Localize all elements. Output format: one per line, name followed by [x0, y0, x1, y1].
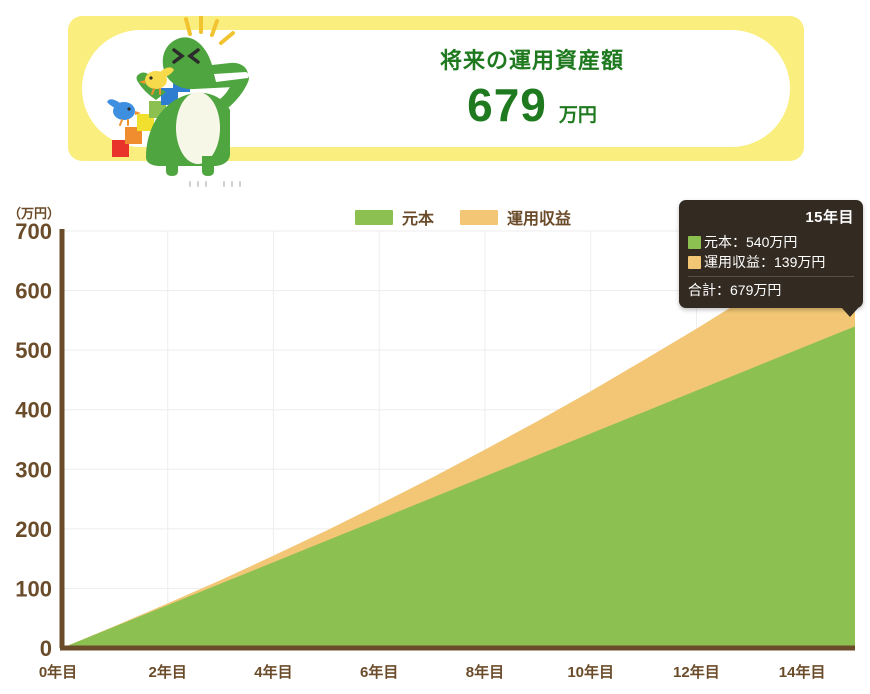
tooltip-swatch-principal [688, 236, 701, 249]
result-text-block: 将来の運用資産額 679 万円 [282, 30, 782, 147]
tooltip-row-profit: 運用収益：139万円 [688, 252, 854, 272]
legend-swatch-principal [355, 210, 393, 225]
y-tick-label: 300 [15, 457, 52, 482]
x-tick-label: 8年目 [466, 663, 504, 681]
x-tick-label: 6年目 [360, 663, 398, 681]
x-tick-label: 4年目 [254, 663, 292, 681]
y-tick-label: 400 [15, 398, 52, 423]
y-tick-label: 500 [15, 338, 52, 363]
y-tick-label: 600 [15, 279, 52, 304]
legend-swatch-profit [460, 210, 498, 225]
legend-label-principal: 元本 [402, 205, 434, 229]
x-tick-label: 10年目 [567, 663, 614, 681]
crocodile-mascot-icon [94, 16, 294, 191]
y-tick-label: 700 [15, 219, 52, 244]
chart-legend: 元本 運用収益 [355, 205, 571, 229]
x-tick-label: 0年目 [39, 663, 77, 681]
tooltip-swatch-profit [688, 256, 701, 269]
legend-item-profit: 運用収益 [460, 205, 571, 229]
asset-growth-chart: （万円） 0100200300400500600700 0年目2年目4年目6年目… [0, 175, 870, 694]
result-banner: 将来の運用資産額 679 万円 [68, 16, 804, 161]
tooltip-total: 合計：679万円 [688, 276, 854, 300]
result-pill: 将来の運用資産額 679 万円 [82, 30, 790, 147]
legend-item-principal: 元本 [355, 205, 434, 229]
tooltip-row-principal: 元本：540万円 [688, 232, 854, 252]
y-tick-label: 100 [15, 576, 52, 601]
x-tick-label: 14年目 [779, 663, 826, 681]
y-axis-tick-labels: 0100200300400500600700 [15, 219, 52, 661]
tooltip-title: 15年目 [688, 206, 854, 227]
page-title: 将来の運用資産額 [440, 50, 624, 72]
tooltip-arrow-icon [841, 307, 859, 317]
tooltip-label-principal: 元本：540万円 [704, 232, 797, 252]
result-amount-value: 679 [467, 82, 547, 128]
y-tick-label: 200 [15, 517, 52, 542]
result-amount-unit: 万円 [559, 100, 597, 127]
chart-tooltip: 15年目 元本：540万円 運用収益：139万円 合計：679万円 [679, 200, 863, 308]
result-amount-row: 679 万円 [467, 82, 597, 128]
tooltip-label-profit: 運用収益：139万円 [704, 252, 825, 272]
y-tick-label: 0 [40, 636, 52, 661]
x-tick-label: 12年目 [673, 663, 720, 681]
x-tick-label: 2年目 [149, 663, 187, 681]
legend-label-profit: 運用収益 [507, 205, 571, 229]
x-axis-tick-labels: 0年目2年目4年目6年目8年目10年目12年目14年目 [39, 663, 826, 681]
